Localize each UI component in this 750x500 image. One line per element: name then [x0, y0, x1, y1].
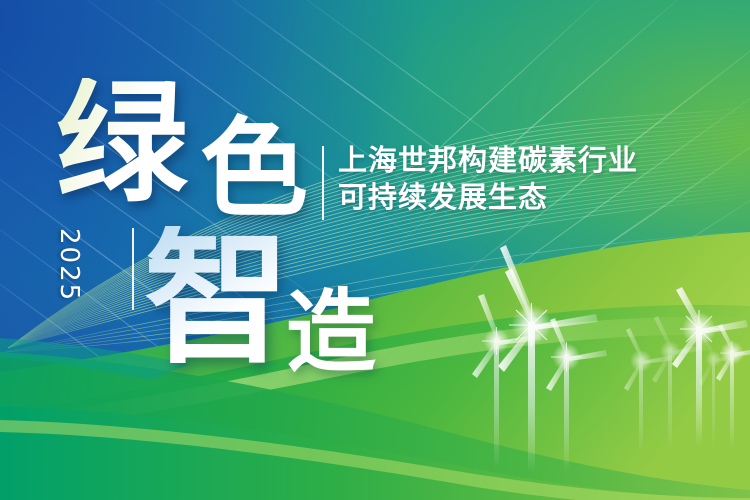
wind-turbine-group: [0, 0, 750, 500]
wind-turbine: [498, 268, 598, 472]
wind-turbine: [546, 318, 607, 472]
banner-root: 绿 色 智 造 2025 上海世邦构建碳素行业 可持续发展生态: [0, 0, 750, 500]
wind-turbine: [716, 324, 750, 450]
